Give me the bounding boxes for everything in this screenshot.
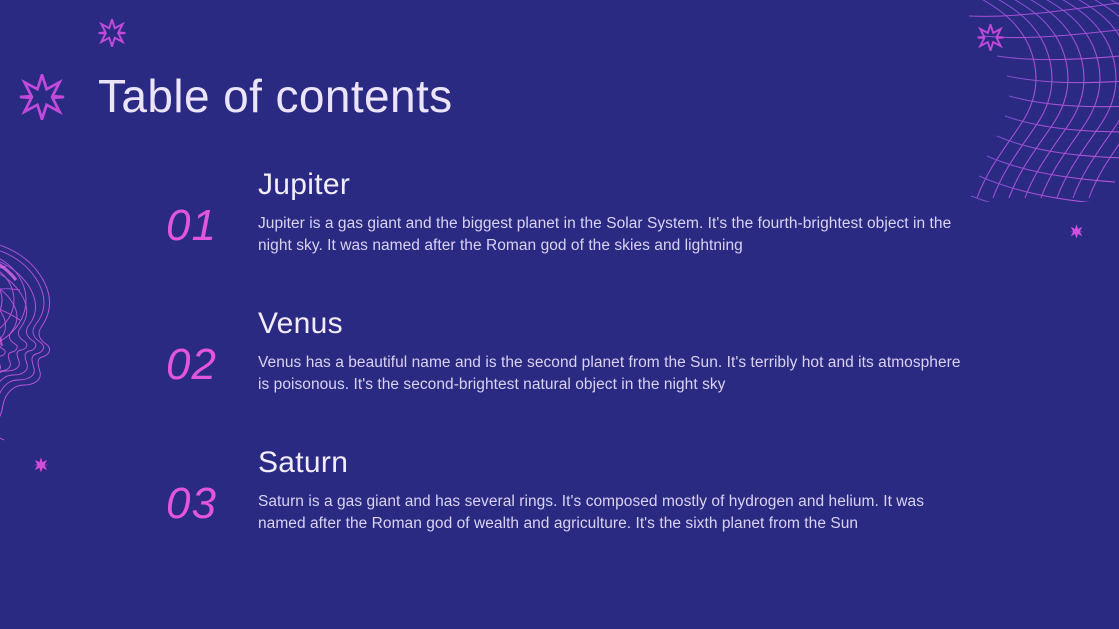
star-icon-left-large — [19, 74, 65, 120]
table-of-contents-list: 01 Jupiter Jupiter is a gas giant and th… — [0, 168, 1119, 585]
toc-description: Jupiter is a gas giant and the biggest p… — [258, 213, 974, 257]
toc-entry-venus[interactable]: 02 Venus Venus has a beautiful name and … — [0, 307, 1119, 446]
star-icon-top-right — [977, 24, 1004, 51]
toc-entry-saturn[interactable]: 03 Saturn Saturn is a gas giant and has … — [0, 446, 1119, 585]
page-title: Table of contents — [98, 69, 453, 123]
toc-entry-body: Venus Venus has a beautiful name and is … — [258, 307, 974, 396]
slide-canvas: Table of contents 01 Jupiter Jupiter is … — [0, 0, 1119, 629]
toc-entry-body: Jupiter Jupiter is a gas giant and the b… — [258, 168, 974, 257]
toc-heading: Jupiter — [258, 168, 974, 201]
toc-description: Venus has a beautiful name and is the se… — [258, 352, 974, 396]
toc-entry-body: Saturn Saturn is a gas giant and has sev… — [258, 446, 974, 535]
toc-heading: Saturn — [258, 446, 974, 479]
toc-entry-jupiter[interactable]: 01 Jupiter Jupiter is a gas giant and th… — [0, 168, 1119, 307]
toc-number: 01 — [166, 204, 246, 248]
toc-number: 02 — [166, 343, 246, 387]
toc-description: Saturn is a gas giant and has several ri… — [258, 491, 974, 535]
toc-heading: Venus — [258, 307, 974, 340]
star-icon-top-left-small — [98, 19, 126, 47]
toc-number: 03 — [166, 482, 246, 526]
